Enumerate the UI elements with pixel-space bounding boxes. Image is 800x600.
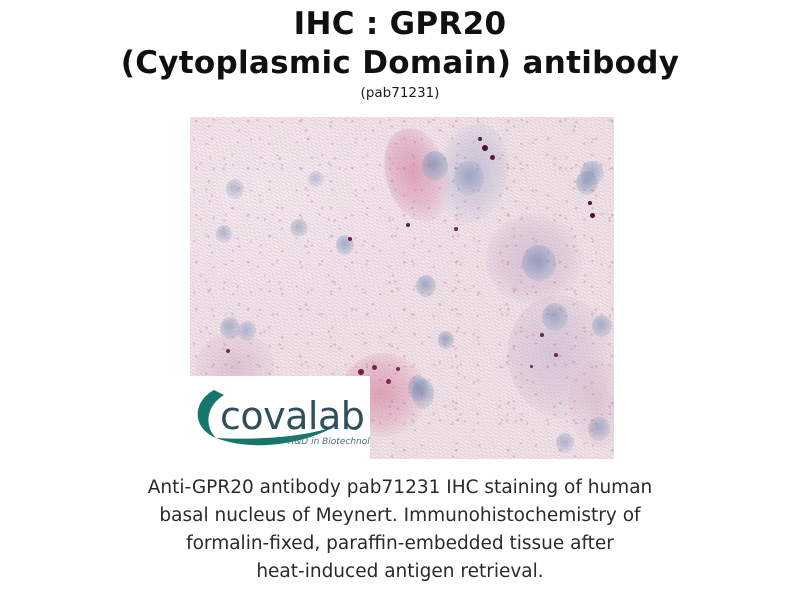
caption-line: basal nucleus of Meynert. Immunohistoche… (60, 502, 740, 530)
caption-line: formalin-fixed, paraffin-embedded tissue… (60, 530, 740, 558)
logo-tagline: R&D in Biotechnology (288, 437, 370, 447)
caption-line: Anti-GPR20 antibody pab71231 IHC stainin… (60, 474, 740, 502)
title-block: IHC : GPR20 (Cytoplasmic Domain) antibod… (0, 0, 800, 101)
logo-wordmark: covalab (220, 394, 364, 438)
caption-line: heat-induced antigen retrieval. (60, 558, 740, 586)
figure-caption: Anti-GPR20 antibody pab71231 IHC stainin… (60, 474, 740, 586)
covalab-logo: covalab R&D in Biotechnology (190, 376, 370, 459)
ihc-micrograph: covalab R&D in Biotechnology (190, 117, 614, 459)
page-title-line-2: (Cytoplasmic Domain) antibody (0, 44, 800, 83)
covalab-logo-svg: covalab R&D in Biotechnology (190, 376, 370, 459)
page-title-line-1: IHC : GPR20 (0, 5, 800, 44)
catalog-number: (pab71231) (0, 85, 800, 101)
